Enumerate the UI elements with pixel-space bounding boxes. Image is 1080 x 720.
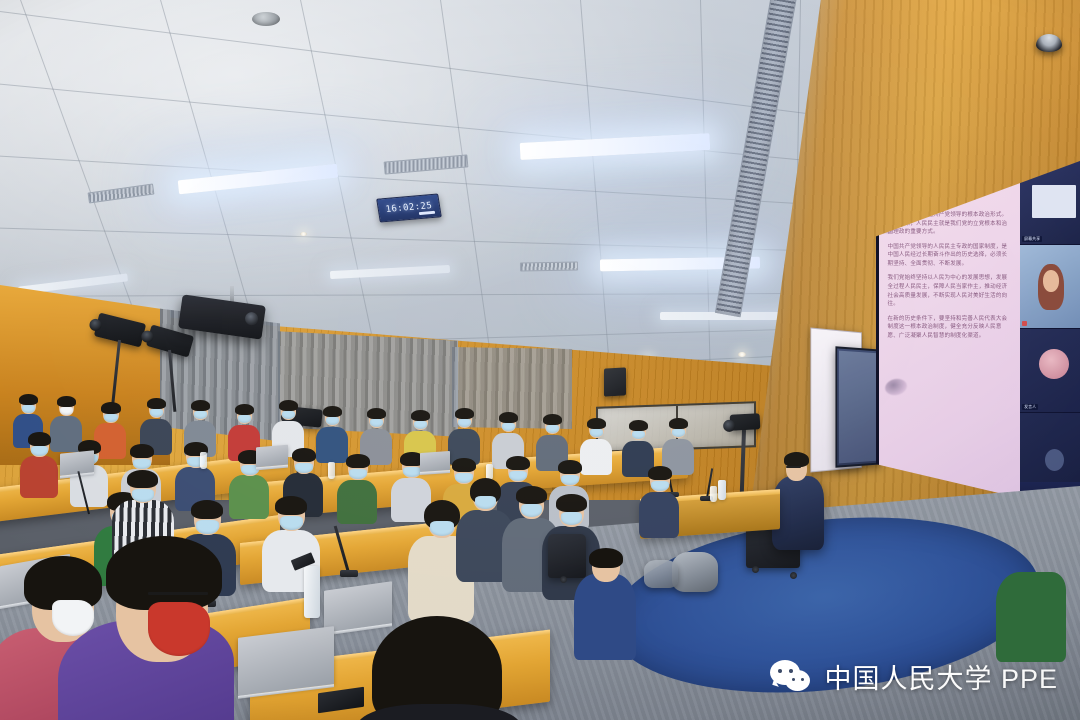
face-mask xyxy=(349,469,367,479)
projector-lens-icon xyxy=(244,311,259,326)
person-hair xyxy=(147,398,166,409)
face-mask xyxy=(403,467,421,477)
eyeglasses-icon xyxy=(148,592,208,595)
person-hair xyxy=(130,444,154,458)
laptop xyxy=(256,445,288,468)
face-mask xyxy=(194,411,207,419)
person-body xyxy=(20,456,58,498)
person-hair xyxy=(28,432,51,446)
secondary-monitor-screen xyxy=(839,351,878,464)
person-hair xyxy=(101,402,121,414)
person-hair xyxy=(543,414,562,425)
person-hair xyxy=(191,500,223,519)
face-mask xyxy=(104,414,118,422)
downlight-icon xyxy=(738,352,746,357)
person-hair xyxy=(279,400,298,411)
laptop xyxy=(238,626,334,696)
person-hair xyxy=(411,410,430,421)
person-hair xyxy=(589,548,623,568)
tripod-camera xyxy=(730,413,761,431)
face-mask xyxy=(455,473,473,483)
face-mask xyxy=(133,459,151,469)
person-hair xyxy=(346,454,370,468)
face-mask xyxy=(561,475,579,485)
face-mask xyxy=(238,415,251,423)
face-mask xyxy=(561,512,582,525)
backpack xyxy=(644,560,678,588)
person-hair xyxy=(558,460,582,474)
downlight-icon xyxy=(300,232,307,236)
lecture-hall-photo: 16:02:25 xyxy=(0,0,1080,720)
person-hair xyxy=(106,536,222,610)
microphone-base xyxy=(340,570,358,577)
hvac-vent-icon xyxy=(520,261,578,271)
person-body xyxy=(574,574,636,660)
face-mask xyxy=(31,446,48,456)
person-hair xyxy=(235,404,254,415)
water-bottle xyxy=(328,462,335,479)
person-hair xyxy=(323,406,342,417)
person-body xyxy=(316,427,348,463)
person-hair xyxy=(587,418,606,429)
face-mask xyxy=(672,429,685,437)
water-bottle xyxy=(304,566,320,618)
face-mask xyxy=(148,602,210,656)
face-mask xyxy=(282,411,295,419)
person-hair xyxy=(19,394,38,405)
face-mask xyxy=(295,463,313,473)
person-hair xyxy=(669,418,688,429)
chair-caster xyxy=(752,566,759,573)
secondary-monitor xyxy=(835,346,881,467)
person-hair xyxy=(455,408,474,419)
face-mask xyxy=(502,423,515,431)
person-hair xyxy=(367,408,386,419)
smoke-detector-icon xyxy=(252,12,280,26)
water-bottle xyxy=(718,480,726,500)
face-mask xyxy=(521,504,542,517)
face-mask xyxy=(651,481,669,491)
face-mask xyxy=(326,417,339,425)
presenter-glasses-icon xyxy=(786,466,801,468)
face-mask xyxy=(60,407,73,415)
laptop xyxy=(324,581,392,633)
person-hair xyxy=(499,412,518,423)
person-hair xyxy=(506,456,530,470)
person-body xyxy=(580,439,612,475)
person-hair xyxy=(191,400,210,411)
person-hair xyxy=(275,496,307,515)
face-mask xyxy=(475,496,496,509)
chair-caster xyxy=(790,572,797,579)
clock-indicator-bar xyxy=(419,211,435,215)
face-mask xyxy=(509,471,527,481)
person-body xyxy=(229,475,269,519)
face-mask xyxy=(632,431,645,439)
person-hair xyxy=(516,486,547,504)
face-mask xyxy=(458,419,471,427)
person-hair xyxy=(127,470,158,488)
person-hair xyxy=(452,458,476,472)
face-mask xyxy=(150,409,163,417)
laptop xyxy=(420,451,450,472)
chair-caster xyxy=(560,576,567,583)
water-bottle xyxy=(710,486,717,502)
person-hair xyxy=(556,494,587,512)
face-mask xyxy=(280,516,303,530)
face-mask xyxy=(590,429,603,437)
face-mask xyxy=(22,405,35,413)
person-hair xyxy=(648,466,672,480)
presenter-hair xyxy=(784,452,809,467)
person-body xyxy=(996,572,1066,662)
water-bottle xyxy=(200,452,207,469)
audience-chair xyxy=(548,534,586,578)
face-mask xyxy=(370,419,383,427)
face-mask xyxy=(546,425,559,433)
person-body xyxy=(639,492,679,538)
face-mask xyxy=(414,421,427,429)
backpack xyxy=(672,552,718,592)
person-body xyxy=(337,480,377,524)
person-hair xyxy=(629,420,648,431)
person-hair xyxy=(57,396,76,407)
person-hair xyxy=(292,448,316,462)
face-mask xyxy=(430,521,454,536)
face-mask xyxy=(196,520,219,534)
wall-speaker-icon xyxy=(604,367,626,396)
dome-security-camera-icon xyxy=(1036,34,1062,52)
face-mask xyxy=(132,489,154,502)
